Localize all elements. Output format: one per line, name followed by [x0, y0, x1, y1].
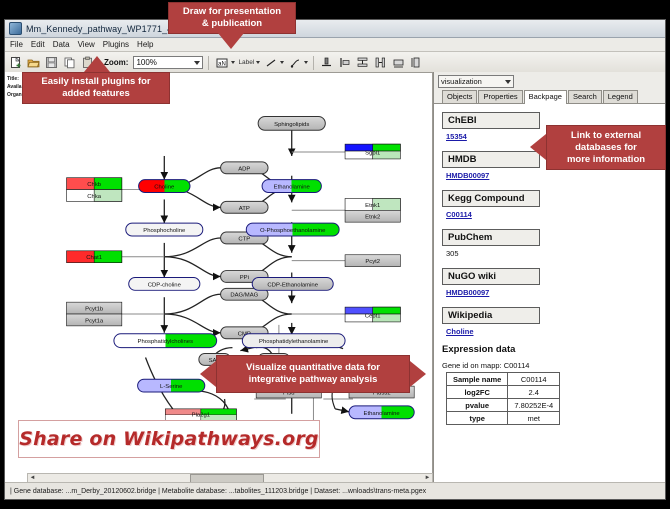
row-label: log2FC [447, 386, 508, 399]
svg-text:Sgpl1: Sgpl1 [365, 150, 380, 156]
callout-draw-line1: Draw for presentation [183, 6, 281, 18]
align-left-icon[interactable] [337, 55, 352, 70]
node-pcyt2[interactable]: Pcyt2 [345, 255, 400, 267]
svg-text:L-Serine: L-Serine [160, 384, 183, 390]
section-heading-hmdb: HMDB [442, 151, 540, 168]
callout-links-line2: databases for [575, 142, 637, 154]
callout-links-line3: more information [567, 154, 645, 166]
node-choline-top[interactable]: Choline [139, 180, 190, 193]
tab-legend[interactable]: Legend [603, 90, 638, 103]
node-adp[interactable]: ADP [221, 162, 268, 174]
svg-text:Cept1: Cept1 [365, 313, 381, 319]
zoom-select[interactable]: 100% [133, 56, 203, 69]
callout-visualize-line1: Visualize quantitative data for [246, 362, 380, 374]
svg-text:Phosphocholine: Phosphocholine [143, 228, 186, 234]
row-value: 7.80252E-4 [508, 399, 560, 412]
svg-text:DAG/MAG: DAG/MAG [230, 293, 258, 299]
callout-plugins-line1: Easily install plugins for [41, 76, 150, 88]
link-hmdb[interactable]: HMDB00097 [446, 171, 665, 180]
tab-search[interactable]: Search [568, 90, 602, 103]
svg-text:Choline: Choline [154, 185, 175, 191]
gene-id-line: Gene id on mapp: C00114 [442, 361, 665, 370]
distribute-vertical-icon[interactable] [355, 55, 370, 70]
callout-draw-arrow [218, 33, 244, 49]
svg-text:Pcyt1b: Pcyt1b [85, 307, 104, 313]
section-heading-pubchem: PubChem [442, 229, 540, 246]
table-row: log2FC 2.4 [447, 386, 560, 399]
side-panel-tabs: Objects Properties Backpage Search Legen… [434, 89, 665, 104]
callout-links-line1: Link to external [571, 130, 641, 142]
label-tool[interactable]: Label [238, 59, 260, 66]
svg-text:Chkb: Chkb [87, 182, 102, 188]
copy-icon[interactable] [62, 55, 77, 70]
new-icon[interactable] [8, 55, 23, 70]
node-chkb-chka[interactable]: Chkb Chka [67, 178, 122, 202]
link-wikipedia[interactable]: Choline [446, 327, 665, 336]
visualization-select[interactable]: visualization [438, 75, 514, 88]
svg-text:Etnk2: Etnk2 [365, 215, 380, 221]
title-bar: Mm_Kennedy_pathway_WP1771_45176.gpml [5, 20, 665, 38]
callout-draw: Draw for presentation & publication [168, 2, 296, 34]
section-heading-kegg-compound: Kegg Compound [442, 190, 540, 207]
callout-visualize-arrow-left [200, 361, 216, 387]
interaction-icon[interactable] [287, 55, 302, 70]
callout-plugins: Easily install plugins for added feature… [22, 72, 170, 104]
datanode-icon[interactable]: aN [214, 55, 229, 70]
svg-text:Chka: Chka [87, 194, 102, 200]
status-text: | Gene database: ...m_Derby_20120602.bri… [10, 488, 426, 495]
callout-plugins-arrow [84, 56, 110, 72]
visualization-row: visualization [434, 72, 665, 89]
expression-table: Sample name C00114 log2FC 2.4 pvalue 7.8… [446, 372, 560, 425]
save-icon[interactable] [44, 55, 59, 70]
table-row: Sample name C00114 [447, 373, 560, 386]
node-sphingolipids[interactable]: Sphingolipids [258, 116, 325, 130]
align-top-icon[interactable] [319, 55, 334, 70]
status-bar: | Gene database: ...m_Derby_20120602.bri… [5, 482, 665, 499]
toolbar-separator [208, 56, 209, 70]
svg-text:Pcyt1a: Pcyt1a [85, 318, 104, 324]
menu-item-plugins[interactable]: Plugins [103, 40, 129, 49]
chevron-down-icon[interactable] [256, 61, 260, 64]
row-value: 2.4 [508, 386, 560, 399]
callout-draw-line2: & publication [202, 18, 262, 30]
same-height-icon[interactable] [409, 55, 424, 70]
node-phosphatidylethanolamine[interactable]: Phosphatidylethanolamine [242, 334, 345, 348]
link-kegg-compound[interactable]: C00114 [446, 210, 665, 219]
visualization-value: visualization [441, 77, 482, 86]
callout-links: Link to external databases for more info… [546, 125, 666, 170]
row-label: Sample name [447, 373, 508, 386]
node-pla2g1[interactable]: Pla2g1 [165, 409, 236, 421]
svg-text:Phosphatidylcholines: Phosphatidylcholines [138, 339, 194, 345]
svg-text:CTP: CTP [238, 236, 250, 242]
tab-backpage[interactable]: Backpage [524, 90, 567, 104]
node-ethanolamine-lower[interactable]: Ethanolamine [349, 406, 414, 419]
section-heading-chebi: ChEBI [442, 112, 540, 129]
callout-visualize-line2: integrative pathway analysis [249, 374, 378, 386]
toolbar-separator [313, 56, 314, 70]
callout-links-arrow [530, 134, 546, 160]
line-icon[interactable] [263, 55, 278, 70]
chevron-down-icon [194, 61, 200, 65]
row-value: C00114 [508, 373, 560, 386]
interaction-tool[interactable] [287, 55, 308, 70]
chevron-down-icon [505, 80, 511, 84]
tab-objects[interactable]: Objects [442, 90, 477, 103]
table-row: type met [447, 412, 560, 425]
callout-visualize: Visualize quantitative data for integrat… [216, 355, 410, 393]
svg-text:PPi: PPi [240, 275, 249, 281]
open-folder-icon[interactable] [26, 55, 41, 70]
svg-text:Etnk1: Etnk1 [365, 203, 380, 209]
menu-item-help[interactable]: Help [137, 40, 153, 49]
line-tool[interactable] [263, 55, 284, 70]
screenshot-root: Mm_Kennedy_pathway_WP1771_45176.gpml Fil… [0, 0, 670, 509]
svg-text:ADP: ADP [238, 166, 250, 172]
app-icon [9, 22, 22, 35]
chevron-down-icon[interactable] [280, 61, 284, 64]
svg-text:Phosphatidylethanolamine: Phosphatidylethanolamine [259, 339, 329, 345]
same-width-icon[interactable] [391, 55, 406, 70]
node-etnk1-etnk2[interactable]: Etnk1 Etnk2 [345, 198, 400, 222]
share-banner-text: Share on Wikipathways.org [19, 428, 318, 450]
row-value: met [508, 412, 560, 425]
zoom-value: 100% [136, 58, 156, 67]
svg-text:CDP-Ethanolamine: CDP-Ethanolamine [267, 282, 318, 288]
link-nugo-wiki[interactable]: HMDB00097 [446, 288, 665, 297]
tab-properties[interactable]: Properties [478, 90, 522, 103]
node-chat1[interactable]: Chat1 [67, 251, 122, 263]
table-row: pvalue 7.80252E-4 [447, 399, 560, 412]
node-cdp-choline[interactable]: CDP-choline [129, 277, 200, 290]
row-label: pvalue [447, 399, 508, 412]
menu-item-edit[interactable]: Edit [31, 40, 45, 49]
node-atp[interactable]: ATP [221, 201, 268, 213]
chevron-down-icon[interactable] [304, 61, 308, 64]
value-pubchem: 305 [446, 249, 665, 258]
menu-item-data[interactable]: Data [53, 40, 70, 49]
svg-text:Ethanolamine: Ethanolamine [274, 185, 311, 191]
expression-data-heading: Expression data [442, 344, 665, 355]
scroll-left-icon[interactable]: ◄ [28, 474, 37, 482]
menu-bar: File Edit Data View Plugins Help [5, 38, 665, 52]
datanode-tool[interactable]: aN [214, 55, 235, 70]
callout-plugins-line2: added features [62, 88, 130, 100]
share-banner: Share on Wikipathways.org [18, 420, 320, 458]
svg-text:O-Phosphoethanolamine: O-Phosphoethanolamine [260, 228, 326, 234]
svg-text:Ethanolamine: Ethanolamine [364, 411, 401, 417]
distribute-horizontal-icon[interactable] [373, 55, 388, 70]
svg-text:Pcyt2: Pcyt2 [365, 259, 380, 265]
chevron-down-icon[interactable] [231, 61, 235, 64]
menu-item-view[interactable]: View [78, 40, 95, 49]
svg-text:ATP: ATP [239, 206, 250, 212]
node-cdp-ethanolamine[interactable]: CDP-Ethanolamine [252, 277, 333, 290]
svg-text:CDP-choline: CDP-choline [148, 282, 182, 288]
row-label: type [447, 412, 508, 425]
section-heading-nugo-wiki: NuGO wiki [442, 268, 540, 285]
scroll-right-icon[interactable]: ► [423, 474, 432, 482]
section-heading-wikipedia: Wikipedia [442, 307, 540, 324]
svg-text:aN: aN [218, 61, 226, 67]
node-o-phosphoethanolamine[interactable]: O-Phosphoethanolamine [246, 223, 339, 236]
node-phosphatidylcholines[interactable]: Phosphatidylcholines [114, 334, 217, 348]
label-tool-text: Label [238, 59, 254, 66]
svg-text:Sphingolipids: Sphingolipids [274, 122, 309, 128]
node-phosphocholine[interactable]: Phosphocholine [126, 223, 203, 236]
node-ethanolamine[interactable]: Ethanolamine [262, 180, 321, 193]
svg-text:Chat1: Chat1 [86, 255, 102, 261]
node-l-serine-left[interactable]: L-Serine [138, 379, 205, 392]
callout-visualize-arrow-right [410, 361, 426, 387]
svg-text:Pla2g1: Pla2g1 [192, 413, 210, 419]
node-sgpl1[interactable]: Sgpl1 [345, 144, 400, 159]
menu-item-file[interactable]: File [10, 40, 23, 49]
node-pcyt1b-pcyt1a[interactable]: Pcyt1b Pcyt1a [67, 302, 122, 326]
node-cept1[interactable]: Cept1 [345, 307, 400, 322]
